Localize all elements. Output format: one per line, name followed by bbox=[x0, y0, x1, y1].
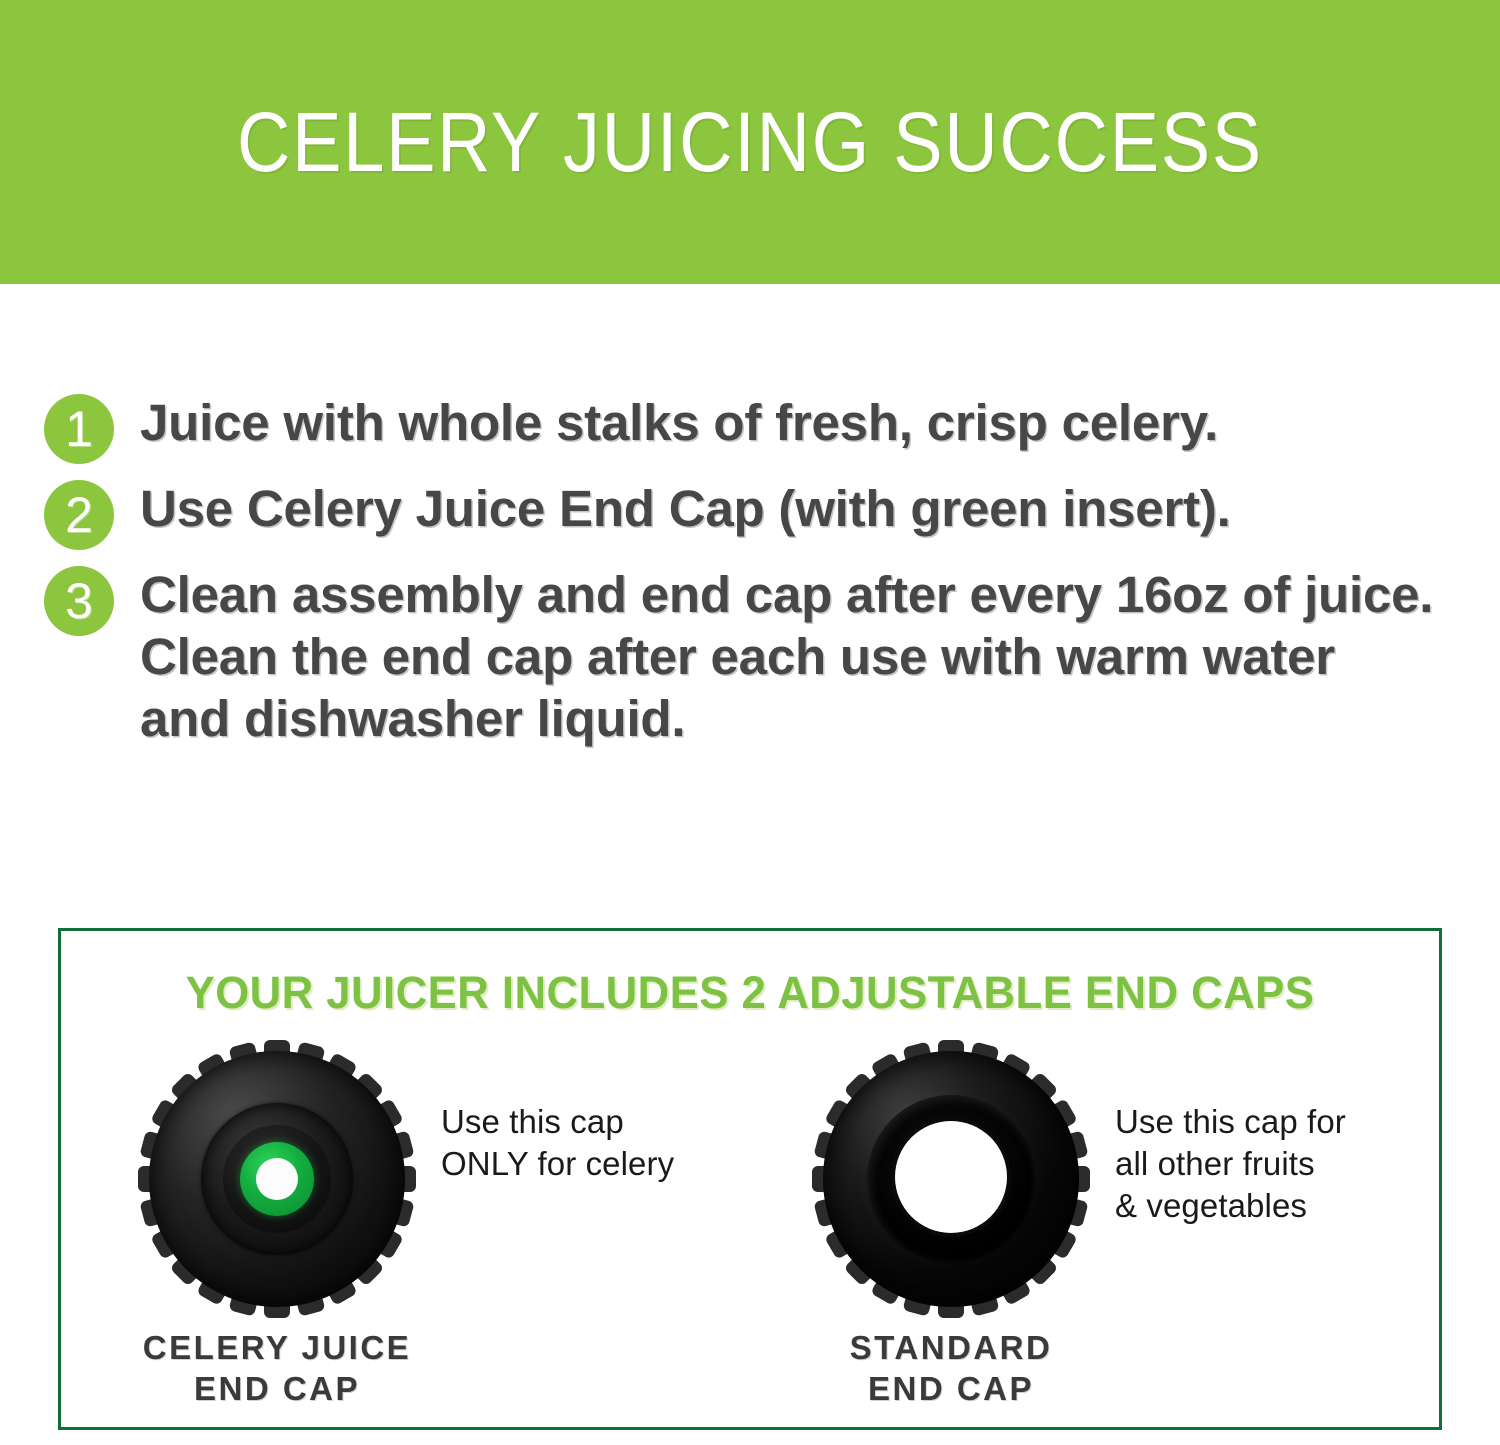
list-item: 3 Clean assembly and end cap after every… bbox=[44, 564, 1464, 750]
cap-label-standard: STANDARD END CAP bbox=[755, 1327, 1147, 1409]
step-text-1: Juice with whole stalks of fresh, crisp … bbox=[140, 392, 1464, 454]
cap-caption-celery: Use this cap ONLY for celery bbox=[441, 1101, 741, 1185]
celery-juice-end-cap-icon bbox=[141, 1043, 413, 1315]
caption-line: & vegetables bbox=[1115, 1185, 1415, 1227]
label-line: STANDARD bbox=[755, 1327, 1147, 1368]
caption-line: Use this cap for bbox=[1115, 1101, 1415, 1143]
steps-list: 1 Juice with whole stalks of fresh, cris… bbox=[44, 392, 1464, 764]
cap-column-celery: Use this cap ONLY for celery CELERY JUIC… bbox=[81, 1043, 741, 1423]
step-number-badge-2: 2 bbox=[44, 480, 114, 550]
end-caps-panel: YOUR JUICER INCLUDES 2 ADJUSTABLE END CA… bbox=[58, 928, 1442, 1430]
step-number-badge-1: 1 bbox=[44, 394, 114, 464]
step-text-2: Use Celery Juice End Cap (with green ins… bbox=[140, 478, 1464, 540]
panel-heading: YOUR JUICER INCLUDES 2 ADJUSTABLE END CA… bbox=[82, 967, 1419, 1019]
caption-line: Use this cap bbox=[441, 1101, 741, 1143]
step-line: Clean assembly and end cap after every 1… bbox=[140, 564, 1464, 626]
cap-label-celery: CELERY JUICE END CAP bbox=[81, 1327, 473, 1409]
step-line: Clean the end cap after each use with wa… bbox=[140, 626, 1464, 688]
list-item: 1 Juice with whole stalks of fresh, cris… bbox=[44, 392, 1464, 464]
label-line: CELERY JUICE bbox=[81, 1327, 473, 1368]
list-item: 2 Use Celery Juice End Cap (with green i… bbox=[44, 478, 1464, 550]
caption-line: all other fruits bbox=[1115, 1143, 1415, 1185]
step-line: Juice with whole stalks of fresh, crisp … bbox=[140, 392, 1464, 454]
cap-center-hole bbox=[256, 1158, 298, 1200]
step-number-badge-3: 3 bbox=[44, 566, 114, 636]
caps-row: Use this cap ONLY for celery CELERY JUIC… bbox=[61, 1043, 1439, 1423]
step-line: Use Celery Juice End Cap (with green ins… bbox=[140, 478, 1464, 540]
header-banner: CELERY JUICING SUCCESS bbox=[0, 0, 1500, 284]
cap-caption-standard: Use this cap for all other fruits & vege… bbox=[1115, 1101, 1415, 1227]
step-text-3: Clean assembly and end cap after every 1… bbox=[140, 564, 1464, 750]
label-line: END CAP bbox=[755, 1368, 1147, 1409]
step-line: and dishwasher liquid. bbox=[140, 688, 1464, 750]
standard-end-cap-icon bbox=[815, 1043, 1087, 1315]
page-title: CELERY JUICING SUCCESS bbox=[90, 96, 1410, 188]
caption-line: ONLY for celery bbox=[441, 1143, 741, 1185]
label-line: END CAP bbox=[81, 1368, 473, 1409]
cap-column-standard: Use this cap for all other fruits & vege… bbox=[755, 1043, 1415, 1423]
cap-center-hole bbox=[895, 1121, 1007, 1233]
